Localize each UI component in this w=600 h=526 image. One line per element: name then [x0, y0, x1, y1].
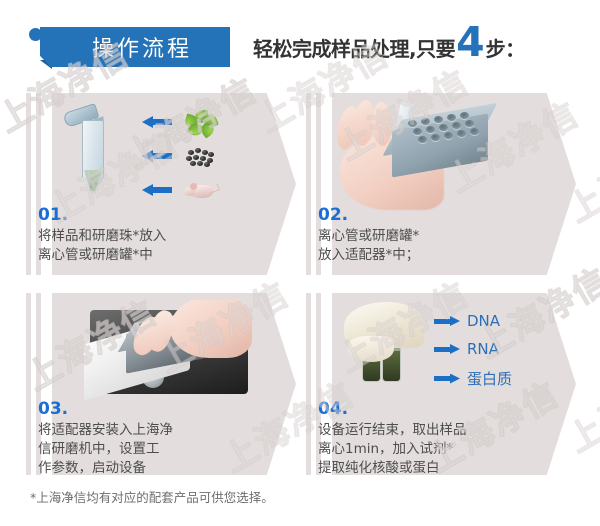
- step-03-text: 03. 将适配器安装入上海净 信研磨机中，设置工 作参数，启动设备: [38, 400, 173, 478]
- seeds-sample-icon: [184, 144, 218, 168]
- step-number: 04.: [318, 400, 467, 420]
- output-row-rna: RNA: [434, 340, 499, 358]
- footnote: *上海净信均有对应的配套产品可供您选择。: [30, 487, 274, 506]
- step-01-artwork: [60, 102, 240, 202]
- step-02-text: 02. 离心管或研磨罐* 放入适配器*中；: [318, 206, 419, 265]
- left-arrow-icon: [142, 184, 172, 196]
- output-label: RNA: [467, 340, 499, 358]
- decor-bar: [26, 293, 31, 475]
- headline: 轻松完成样品处理,只要 4 步：: [253, 26, 525, 62]
- glove-thumb: [348, 336, 394, 362]
- section-banner: 操作流程: [40, 27, 230, 67]
- hand-photo: [170, 300, 252, 358]
- step-04-artwork: DNA RNA 蛋白质: [338, 302, 538, 398]
- headline-step-count: 4: [455, 26, 486, 59]
- step-02-artwork: [336, 100, 526, 212]
- sample-row-seeds: [142, 144, 218, 168]
- decor-bar: [26, 93, 31, 275]
- decor-bar: [306, 293, 311, 475]
- step-number: 01.: [38, 206, 166, 226]
- step-line: 将适配器安装入上海净: [38, 421, 173, 440]
- step-line: 信研磨机中，设置工: [38, 440, 173, 459]
- right-arrow-icon: [434, 374, 460, 384]
- left-arrow-icon: [142, 150, 172, 162]
- mouse-sample-icon: [184, 178, 218, 202]
- leaf-sample-icon: [184, 110, 218, 134]
- tube-body: [82, 120, 104, 178]
- step-04-text: 04. 设备运行结束，取出样品 离心1min，加入试剂* 提取纯化核酸或蛋白: [318, 400, 467, 478]
- step-line: 将样品和研磨珠*放入: [38, 227, 166, 246]
- output-row-dna: DNA: [434, 312, 500, 330]
- step-line: 离心管或研磨罐*中: [38, 246, 166, 265]
- output-row-protein: 蛋白质: [434, 368, 512, 389]
- step-number: 02.: [318, 206, 419, 226]
- headline-prefix: 轻松完成样品处理,只要: [253, 33, 455, 62]
- left-arrow-icon: [142, 116, 172, 128]
- headline-suffix: 步：: [486, 33, 525, 62]
- step-number: 03.: [38, 400, 173, 420]
- step-line: 离心1min，加入试剂*: [318, 440, 467, 459]
- sample-row-leaf: [142, 110, 218, 134]
- right-arrow-icon: [434, 316, 460, 326]
- banner-title: 操作流程: [78, 31, 192, 63]
- centrifuge-tube-icon: [82, 120, 104, 192]
- right-arrow-icon: [434, 344, 460, 354]
- output-label: 蛋白质: [467, 368, 512, 389]
- output-label: DNA: [467, 312, 500, 330]
- step-line: 提取纯化核酸或蛋白: [318, 459, 467, 478]
- sample-row-mouse: [142, 178, 218, 202]
- step-line: 设备运行结束，取出样品: [318, 421, 467, 440]
- step-line: 离心管或研磨罐*: [318, 227, 419, 246]
- header: 操作流程 轻松完成样品处理,只要 4 步：: [0, 0, 600, 86]
- step-01-text: 01. 将样品和研磨珠*放入 离心管或研磨罐*中: [38, 206, 166, 265]
- step-line: 作参数，启动设备: [38, 459, 173, 478]
- step-line: 放入适配器*中；: [318, 246, 419, 265]
- step-03-artwork: [84, 300, 256, 400]
- decor-bar: [306, 93, 311, 275]
